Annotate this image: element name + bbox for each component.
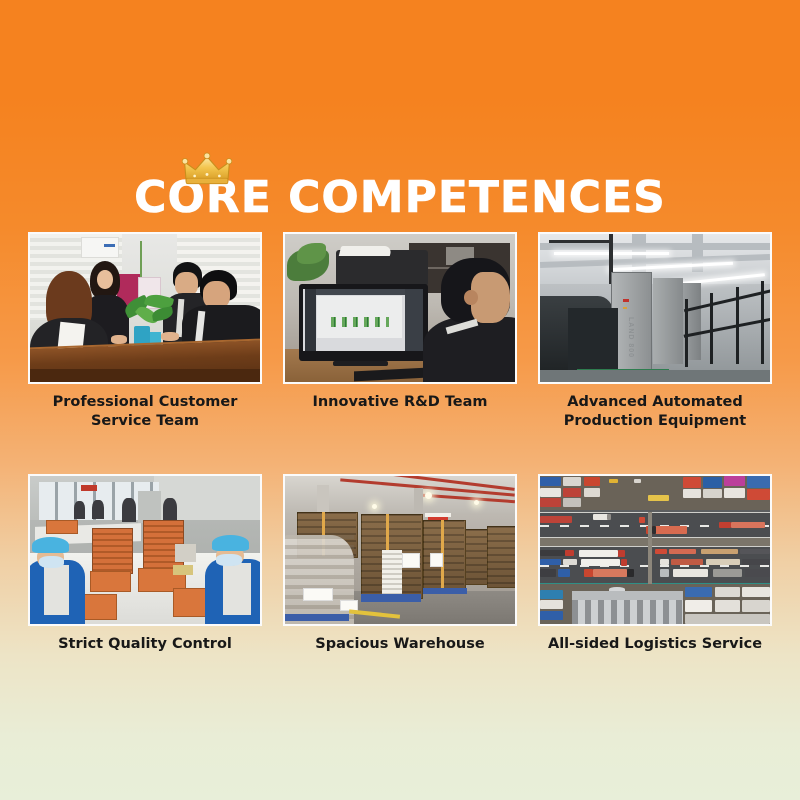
caption-professional-customer-service-team: Professional Customer Service Team xyxy=(28,393,262,431)
competence-card-spacious-warehouse[interactable]: Spacious Warehouse xyxy=(283,474,517,654)
photo-innovative-rd-team xyxy=(283,232,517,384)
caption-advanced-automated-production-equipment: Advanced Automated Production Equipment xyxy=(538,393,772,431)
photo-all-sided-logistics-service xyxy=(538,474,772,626)
competence-card-innovative-rd-team[interactable]: Innovative R&D Team xyxy=(283,232,517,431)
poster-canvas: CORE COMPETENCES xyxy=(0,0,800,800)
photo-advanced-automated-production-equipment: LAND 800 xyxy=(538,232,772,384)
competence-card-all-sided-logistics-service[interactable]: All-sided Logistics Service xyxy=(538,474,772,654)
caption-innovative-rd-team: Innovative R&D Team xyxy=(283,393,517,412)
grid-row-1: Professional Customer Service Team xyxy=(28,232,772,431)
photo-strict-quality-control xyxy=(28,474,262,626)
competence-card-advanced-automated-production-equipment[interactable]: LAND 800 Advanced Automated Production E… xyxy=(538,232,772,431)
photo-professional-customer-service-team xyxy=(28,232,262,384)
caption-strict-quality-control: Strict Quality Control xyxy=(28,635,262,654)
competence-grid: Professional Customer Service Team xyxy=(28,232,772,654)
competence-card-professional-customer-service-team[interactable]: Professional Customer Service Team xyxy=(28,232,262,431)
caption-all-sided-logistics-service: All-sided Logistics Service xyxy=(538,635,772,654)
photo-spacious-warehouse xyxy=(283,474,517,626)
page-title-block: CORE COMPETENCES xyxy=(0,152,800,228)
grid-row-2: Strict Quality Control xyxy=(28,474,772,654)
caption-spacious-warehouse: Spacious Warehouse xyxy=(283,635,517,654)
crown-icon xyxy=(182,152,232,186)
competence-card-strict-quality-control[interactable]: Strict Quality Control xyxy=(28,474,262,654)
